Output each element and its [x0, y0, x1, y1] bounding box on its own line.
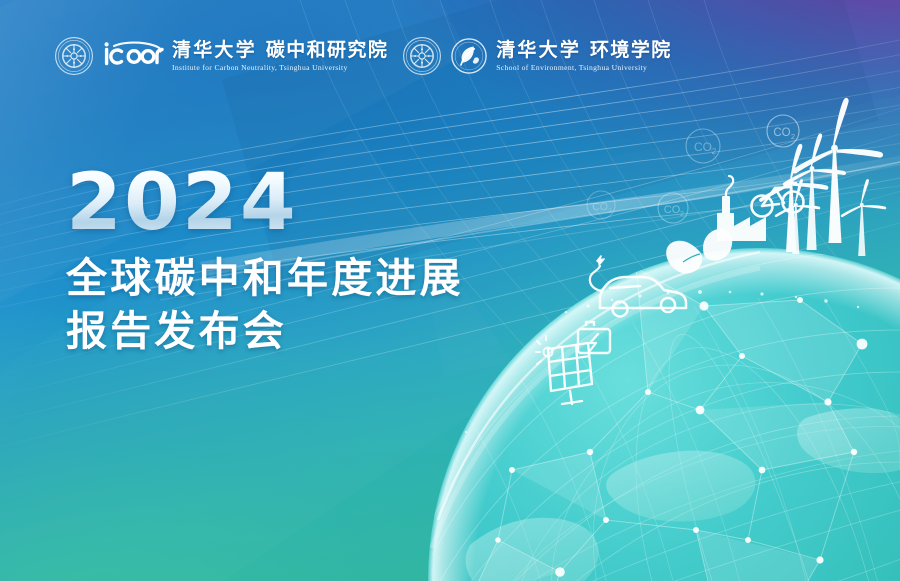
logo-cn-university: 清华大学 [496, 39, 581, 61]
svg-text:CO: CO [773, 127, 790, 139]
school-of-environment-leaf-emblem-icon [450, 37, 488, 75]
logo-institute-carbon-neutrality[interactable]: 清华大学碳中和研究院 Institute for Carbon Neutrali… [54, 36, 388, 76]
logo-text-icn: 清华大学碳中和研究院 Institute for Carbon Neutrali… [172, 40, 388, 73]
svg-text:CO: CO [592, 201, 608, 213]
logo-cn-name-soe: 清华大学环境学院 [496, 40, 671, 61]
svg-text:2: 2 [791, 132, 795, 141]
svg-text:CO: CO [664, 204, 681, 216]
co2-badge-group: CO 2 CO 2 CO 2 CO 2 [587, 115, 799, 223]
battery-charge-icon [578, 322, 610, 353]
co2-badge: CO 2 [767, 115, 799, 147]
logo-school-of-environment[interactable]: 清华大学环境学院 School of Environment, Tsinghua… [402, 36, 671, 76]
logo-en-name-soe: School of Environment, Tsinghua Universi… [496, 63, 671, 72]
title-line-2: 报告发布会 [66, 305, 464, 358]
logo-cn-unit: 环境学院 [590, 39, 672, 61]
icon-lettermark-icon [102, 41, 164, 71]
title-line-1: 全球碳中和年度进展 [66, 252, 464, 305]
tsinghua-university-seal-icon [54, 36, 94, 76]
logo-cn-unit: 碳中和研究院 [266, 39, 388, 61]
svg-text:2: 2 [608, 208, 612, 215]
co2-badge: CO 2 [658, 193, 688, 223]
logo-cn-university: 清华大学 [172, 39, 257, 61]
co2-badge: CO 2 [587, 191, 615, 219]
leaf-icon [666, 229, 732, 274]
tsinghua-university-seal-icon [402, 36, 442, 76]
year-label: 2024 [66, 168, 476, 240]
headline-block: 2024 全球碳中和年度进展 报告发布会 [66, 168, 464, 358]
wind-turbine-icon [841, 179, 887, 256]
poster-canvas: CO 2 CO 2 CO 2 CO 2 [0, 0, 900, 581]
logo-cn-name-icn: 清华大学碳中和研究院 [172, 40, 388, 61]
logo-text-soe: 清华大学环境学院 School of Environment, Tsinghua… [496, 40, 671, 73]
logo-en-name-icn: Institute for Carbon Neutrality, Tsinghu… [172, 63, 388, 72]
svg-text:CO: CO [694, 140, 712, 154]
svg-text:2: 2 [712, 147, 717, 156]
co2-badge: CO 2 [686, 129, 720, 163]
wind-turbine-group [759, 98, 886, 256]
svg-text:2: 2 [680, 211, 684, 218]
solar-panel-icon [536, 336, 592, 404]
logo-bar: 清华大学碳中和研究院 Institute for Carbon Neutrali… [54, 36, 672, 76]
